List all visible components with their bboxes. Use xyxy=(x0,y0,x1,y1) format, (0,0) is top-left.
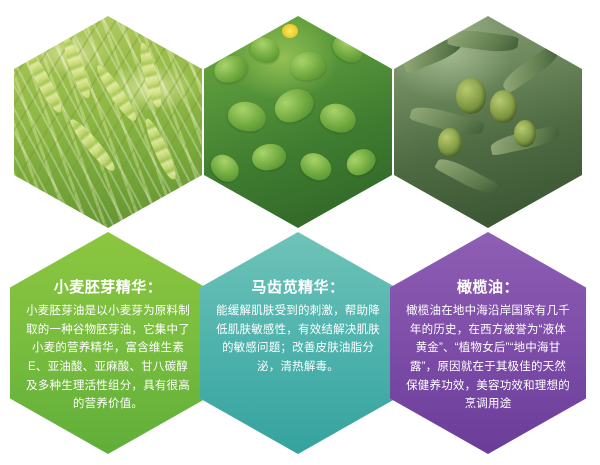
olive-fruit-icon xyxy=(456,78,486,114)
card-text-olive-oil: 橄榄油： 橄榄油在地中海沿岸国家有几千年的历史，在西方被誉为“液体黄金”、“植物… xyxy=(390,232,586,454)
purslane-leaf-icon xyxy=(317,100,359,137)
purslane-flower-icon xyxy=(282,24,298,38)
purslane-leaf-icon xyxy=(288,50,328,83)
card-body-wheat-germ: 小麦胚芽油是以小麦芽为原料制取的一种谷物胚芽油，它集中了小麦的营养精华，富含维生… xyxy=(26,302,190,414)
olive-fruit-icon xyxy=(490,90,517,123)
wheat-field-photo xyxy=(14,16,202,228)
card-image-wheat-germ xyxy=(14,16,202,228)
card-image-purslane xyxy=(204,16,392,228)
card-text-wheat-germ: 小麦胚芽精华： 小麦胚芽油是以小麦芽为原料制取的一种谷物胚芽油，它集中了小麦的营… xyxy=(10,232,206,454)
card-title-olive-oil: 橄榄油： xyxy=(457,276,519,297)
card-image-olive-oil xyxy=(394,16,582,228)
purslane-leaf-icon xyxy=(225,98,268,134)
purslane-leaf-icon xyxy=(206,149,244,187)
card-title-purslane: 马齿苋精华： xyxy=(251,276,344,297)
olive-fruit-icon xyxy=(514,120,536,147)
purslane-leaf-icon xyxy=(247,33,284,66)
purslane-leaf-icon xyxy=(269,83,319,128)
card-body-purslane: 能缓解肌肤受到的刺激，帮助降低肌肤敏感性，有效结解决肌肤的敏感问题；改善皮肤油脂… xyxy=(216,302,380,377)
infographic-canvas: 小麦胚芽精华： 小麦胚芽油是以小麦芽为原料制取的一种谷物胚芽油，它集中了小麦的营… xyxy=(0,0,600,465)
purslane-leaf-icon xyxy=(211,51,251,86)
purslane-leaf-icon xyxy=(342,144,380,180)
card-body-olive-oil: 橄榄油在地中海沿岸国家有几千年的历史，在西方被誉为“液体黄金”、“植物女后”“地… xyxy=(406,302,570,414)
olive-leaf-icon xyxy=(447,27,519,55)
olive-leaf-icon xyxy=(434,154,498,198)
card-title-wheat-germ: 小麦胚芽精华： xyxy=(54,276,163,297)
olive-fruit-icon xyxy=(438,128,462,157)
card-text-purslane: 马齿苋精华： 能缓解肌肤受到的刺激，帮助降低肌肤敏感性，有效结解决肌肤的敏感问题… xyxy=(200,232,396,454)
olive-branch-photo xyxy=(394,16,582,228)
purslane-leaf-icon xyxy=(250,141,288,173)
wheat-stalk-texture xyxy=(14,16,202,228)
purslane-leaf-icon xyxy=(296,148,336,185)
purslane-plant-photo xyxy=(204,16,392,228)
purslane-leaf-icon xyxy=(328,29,369,68)
